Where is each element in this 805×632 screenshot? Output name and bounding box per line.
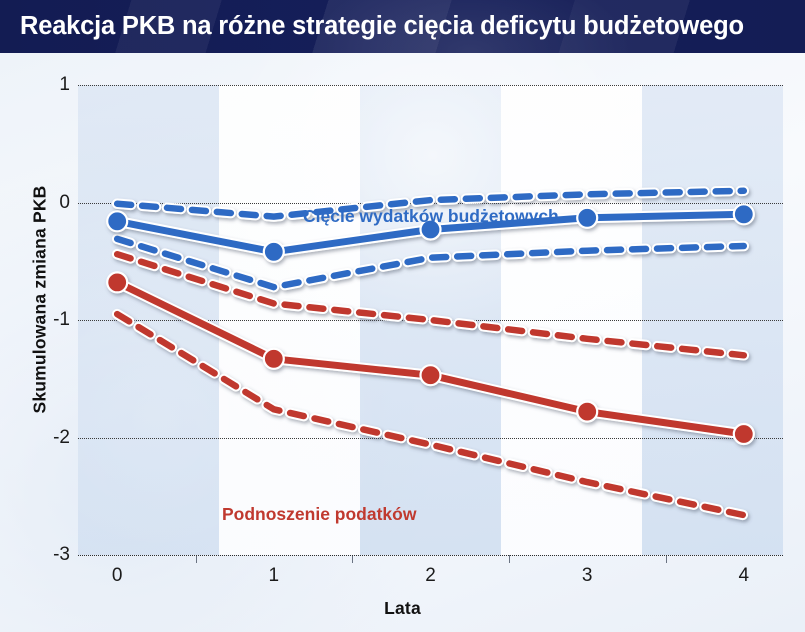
data-point-marker (107, 272, 127, 292)
data-point-marker (421, 365, 441, 385)
data-point-marker (734, 204, 754, 224)
x-tick-mark (196, 555, 197, 563)
y-tick-label: -1 (53, 309, 70, 331)
title-bar: Reakcja PKB na różne strategie cięcia de… (0, 0, 805, 53)
data-point-marker (107, 211, 127, 231)
x-tick-mark (666, 555, 667, 563)
data-point-marker (577, 402, 597, 422)
y-tick-label: -2 (53, 427, 70, 449)
x-tick-label: 0 (112, 565, 123, 587)
x-tick-label: 1 (269, 565, 280, 587)
data-point-marker (264, 242, 284, 262)
y-tick-label: 0 (59, 192, 70, 214)
page-title: Reakcja PKB na różne strategie cięcia de… (20, 11, 744, 40)
x-axis-line (78, 555, 783, 556)
series-line-tax-increases (107, 272, 754, 444)
series-label-tax-increases: Podnoszenie podatków (222, 504, 416, 525)
chart-page: Reakcja PKB na różne strategie cięcia de… (0, 0, 805, 632)
plot-area (78, 85, 783, 555)
figure-area: 10-1-2-3 01234 Lata Skumulowana zmiana P… (0, 53, 805, 632)
x-tick-label: 4 (739, 565, 750, 587)
series-layer (78, 85, 783, 555)
x-tick-mark (509, 555, 510, 563)
y-tick-label: 1 (59, 74, 70, 96)
data-point-marker (734, 424, 754, 444)
x-axis-title: Lata (0, 598, 805, 619)
data-point-marker (264, 349, 284, 369)
data-point-marker (577, 208, 597, 228)
x-tick-label: 2 (425, 565, 436, 587)
x-tick-label: 3 (582, 565, 593, 587)
x-tick-mark (352, 555, 353, 563)
y-tick-label: -3 (53, 544, 70, 566)
x-tick-labels: 01234 (78, 565, 783, 591)
series-label-spending-cuts: Cięcie wydatków budżetowych (303, 206, 559, 227)
y-axis-title: Skumulowana zmiana PKB (30, 140, 51, 460)
